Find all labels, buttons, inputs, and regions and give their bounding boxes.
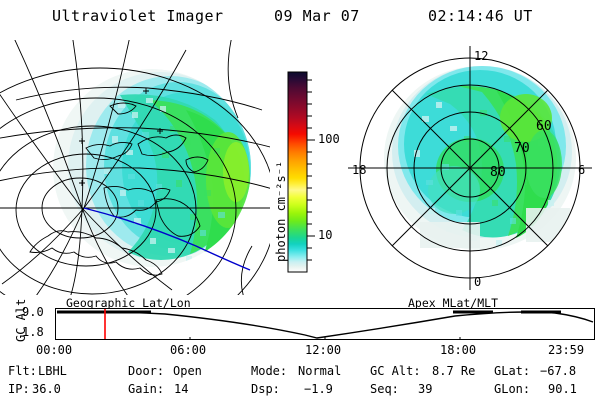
orbit-x-tick-2: 12:00 bbox=[305, 343, 341, 357]
status-door-label: Door: bbox=[128, 364, 164, 378]
status-ip-value: 36.0 bbox=[32, 382, 61, 396]
mlt-label-18: 18 bbox=[352, 163, 366, 177]
colorbar-gradient bbox=[284, 70, 332, 276]
status-glon-value: 90.1 bbox=[548, 382, 577, 396]
header-date: 09 Mar 07 bbox=[274, 7, 360, 25]
header-time: 02:14:46 UT bbox=[428, 7, 533, 25]
status-ip-label: IP: bbox=[8, 382, 30, 396]
orbit-x-tick-0: 00:00 bbox=[36, 343, 72, 357]
status-glat-value: −67.8 bbox=[540, 364, 576, 378]
orbit-y-tick-high: 9.0 bbox=[22, 305, 44, 319]
status-seq-label: Seq: bbox=[370, 382, 399, 396]
mlat-label-70: 70 bbox=[514, 141, 530, 156]
status-gcalt-label: GC Alt: bbox=[370, 364, 421, 378]
magnetic-panel: 12 18 6 0 60 70 80 bbox=[330, 40, 600, 295]
orbit-y-tick-low: 1.8 bbox=[22, 325, 44, 339]
geographic-panel bbox=[0, 40, 270, 295]
orbit-x-tick-3: 18:00 bbox=[440, 343, 476, 357]
status-dsp-value: −1.9 bbox=[304, 382, 333, 396]
status-door-value: Open bbox=[173, 364, 202, 378]
mlat-mlt-grid bbox=[348, 46, 592, 290]
status-seq-value: 39 bbox=[418, 382, 432, 396]
uvi-display: Ultraviolet Imager 09 Mar 07 02:14:46 UT bbox=[0, 0, 600, 400]
colorbar: photon cm⁻²s⁻¹ bbox=[262, 62, 332, 282]
status-mode-value: Normal bbox=[298, 364, 341, 378]
status-glon-label: GLon: bbox=[494, 382, 530, 396]
status-gain-value: 14 bbox=[174, 382, 188, 396]
status-flt-value: LBHL bbox=[38, 364, 67, 378]
mlat-label-80: 80 bbox=[490, 165, 506, 180]
status-gcalt-value: 8.7 Re bbox=[432, 364, 475, 378]
orbit-x-tick-1: 06:00 bbox=[170, 343, 206, 357]
orbit-altitude-plot[interactable] bbox=[55, 308, 595, 340]
status-mode-label: Mode: bbox=[251, 364, 287, 378]
status-dsp-label: Dsp: bbox=[251, 382, 280, 396]
status-glat-label: GLat: bbox=[494, 364, 530, 378]
status-flt-label: Flt: bbox=[8, 364, 37, 378]
header-instrument: Ultraviolet Imager bbox=[52, 7, 224, 25]
mlt-label-12: 12 bbox=[474, 49, 488, 63]
status-gain-label: Gain: bbox=[128, 382, 164, 396]
mlt-label-0: 0 bbox=[474, 275, 481, 289]
mlat-label-60: 60 bbox=[536, 119, 552, 134]
orbit-x-tick-4: 23:59 bbox=[548, 343, 584, 357]
mlt-label-6: 6 bbox=[578, 163, 585, 177]
